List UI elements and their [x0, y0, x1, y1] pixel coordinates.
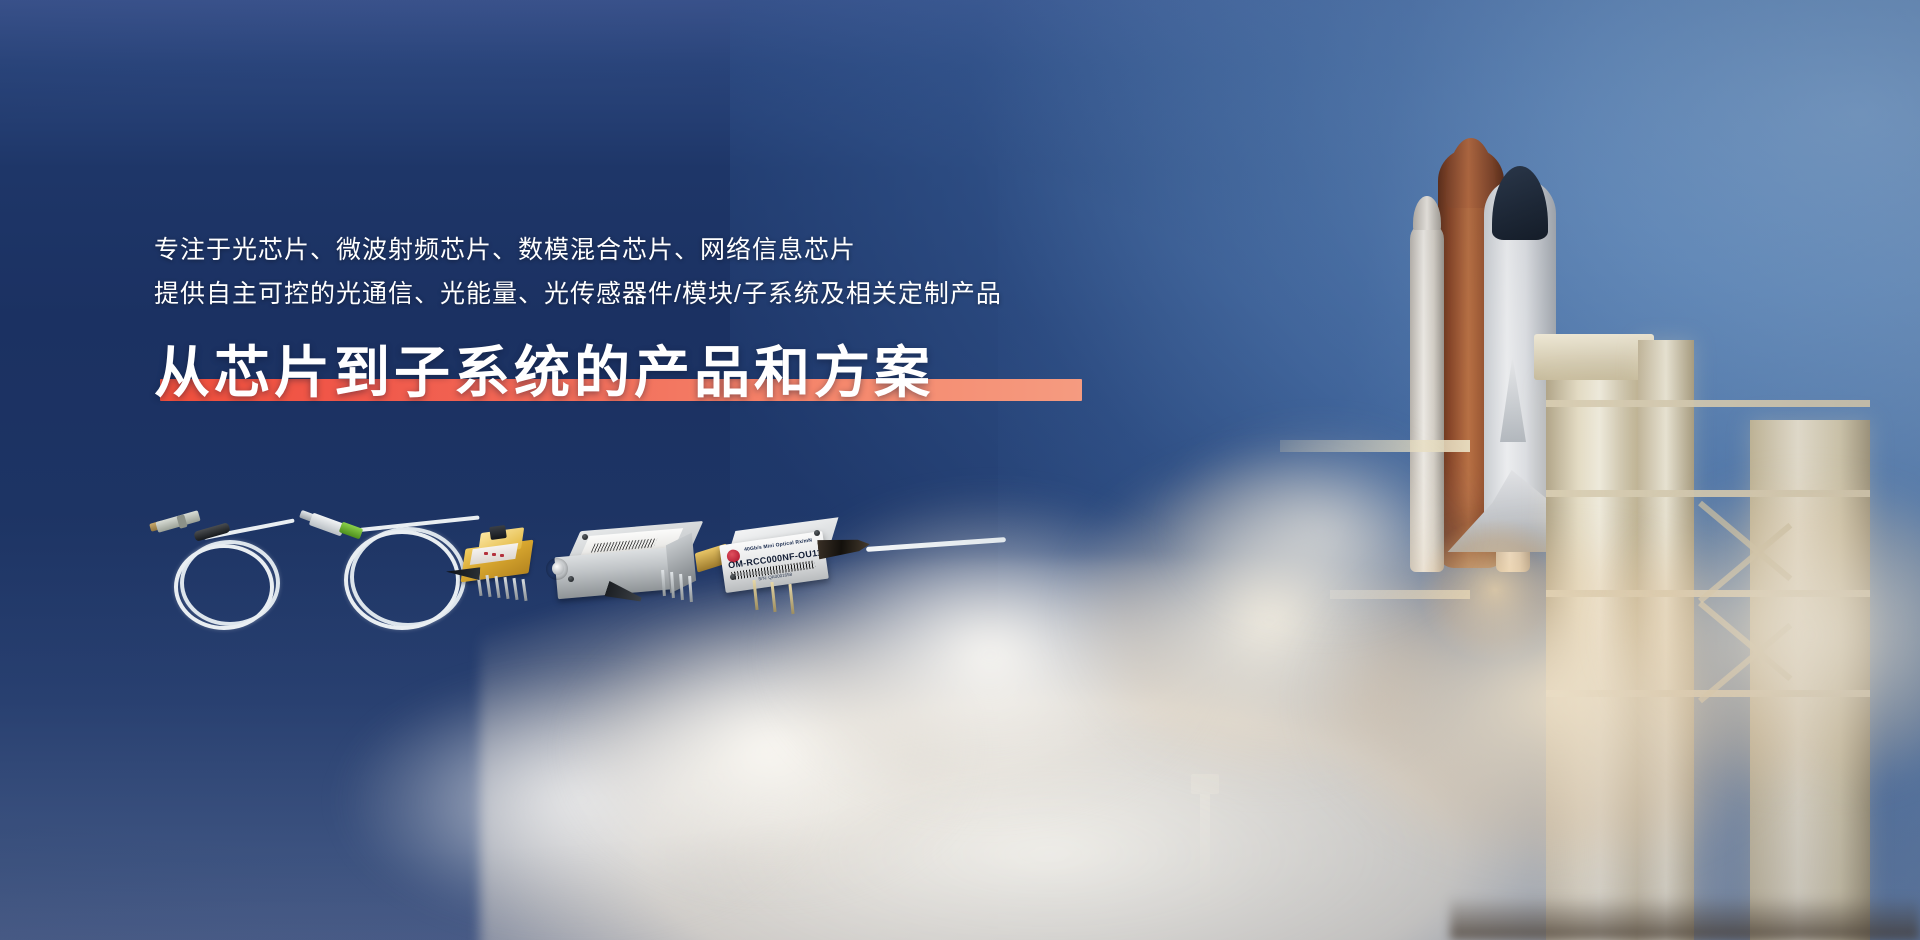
- module-screw: [814, 530, 820, 536]
- fiber-coil: [344, 530, 460, 630]
- connector-green-boot: [339, 522, 363, 540]
- sma-connector-core: [552, 562, 564, 575]
- hero-copy-block: 专注于光芯片、微波射频芯片、数模混合芯片、网络信息芯片 提供自主可控的光通信、光…: [154, 228, 1154, 408]
- label-marking: [492, 553, 496, 556]
- product-fiber-pigtail-assembly: [150, 510, 320, 630]
- tower-cap: [1534, 334, 1654, 380]
- product-optical-receiver-module: 40Gb/s Mini Optical Rx/mN OM-RCC000NF-OU…: [710, 508, 1010, 638]
- module-pin: [770, 582, 776, 612]
- fiber-coil: [174, 544, 274, 630]
- tower-beam: [1546, 400, 1870, 407]
- module-screw: [582, 534, 588, 540]
- pad-ground-shadow: [1450, 896, 1920, 940]
- hero-headline: 从芯片到子系统的产品和方案: [154, 338, 934, 408]
- product-showcase-row: 40Gb/s Mini Optical Rx/mN OM-RCC000NF-OU…: [150, 520, 1150, 670]
- hero-banner: 专注于光芯片、微波射频芯片、数模混合芯片、网络信息芯片 提供自主可控的光通信、光…: [0, 0, 1920, 940]
- optical-window: [489, 525, 507, 540]
- package-pin: [503, 577, 509, 599]
- label-marking: [484, 552, 488, 555]
- fiber-tail: [866, 537, 1006, 552]
- connector-boot: [193, 522, 230, 542]
- label-marking: [500, 554, 504, 557]
- module-screw: [568, 576, 574, 582]
- space-shuttle-launch-scene: [1040, 0, 1920, 940]
- hero-subtitle-line-1: 专注于光芯片、微波射频芯片、数模混合芯片、网络信息芯片: [154, 228, 1154, 272]
- package-pin: [512, 578, 518, 600]
- package-pin: [494, 576, 500, 598]
- hero-headline-wrap: 从芯片到子系统的产品和方案: [154, 338, 934, 408]
- module-pin: [788, 584, 794, 614]
- package-pin: [521, 579, 527, 601]
- hero-subtitle-line-2: 提供自主可控的光通信、光能量、光传感器件/模块/子系统及相关定制产品: [154, 272, 1154, 316]
- connector-body: [309, 513, 345, 537]
- smoke-cloud: [1160, 420, 1480, 640]
- module-screw: [730, 574, 736, 580]
